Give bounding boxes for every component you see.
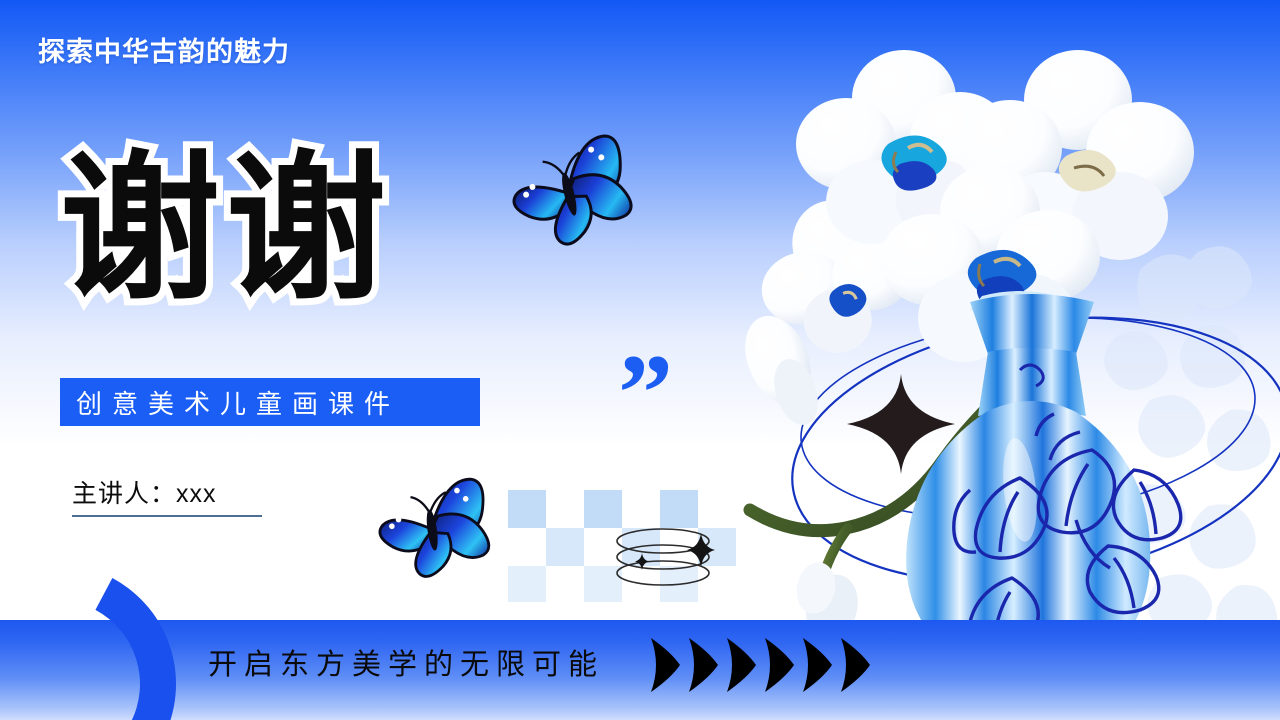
presenter-underline: [72, 515, 262, 517]
butterfly-icon: [372, 468, 494, 590]
ring-stack-icon: [600, 527, 726, 589]
subtitle-text: 创意美术儿童画课件: [76, 384, 400, 421]
orchid-bud: [733, 306, 865, 660]
play-triangle-icon: [686, 636, 720, 694]
header-title: 探索中华古韵的魅力: [38, 30, 290, 69]
play-triangle-icon: [648, 636, 682, 694]
play-triangle-icon: [724, 636, 758, 694]
subtitle-banner: 创意美术儿童画课件: [60, 378, 480, 426]
play-triangle-icon: [800, 636, 834, 694]
main-title: 谢谢: [60, 150, 392, 310]
sparkle-icon: [687, 533, 715, 567]
play-triangle-icon: [838, 636, 872, 694]
presentation-slide: 热爱美学 探索中华古韵的魅力 谢谢 创意美术儿童画课件 ” 主讲人：xxx 开启…: [0, 0, 1280, 720]
orchid-and-vase-artwork: [720, 40, 1280, 720]
bottom-tagline: 开启东方美学的无限可能: [208, 641, 604, 683]
background-gradient-bottom: [0, 620, 1280, 720]
quotation-mark-icon: ”: [618, 338, 673, 448]
butterfly-icon: [505, 128, 635, 258]
badge-ring: 热爱美学: [0, 556, 184, 720]
arrow-row: [648, 636, 872, 694]
presenter-label: 主讲人：xxx: [72, 474, 217, 510]
play-triangle-icon: [762, 636, 796, 694]
